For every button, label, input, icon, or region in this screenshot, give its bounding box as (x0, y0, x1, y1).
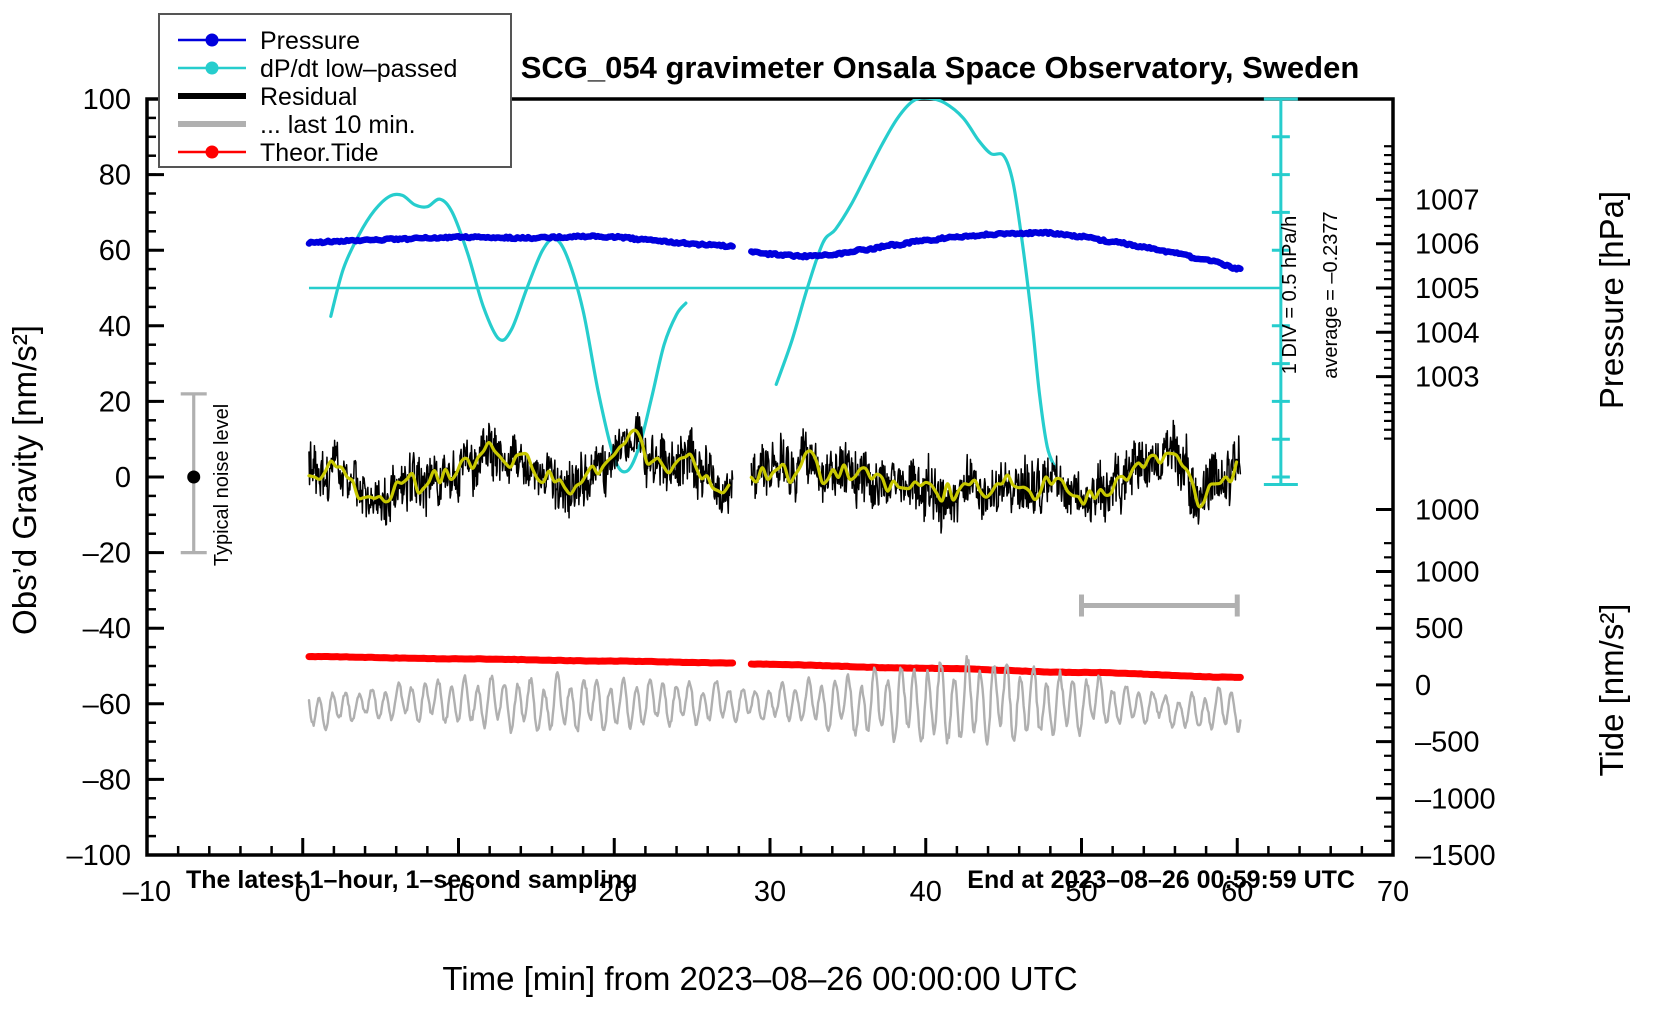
typical-noise-level-label: Typical noise level (211, 404, 233, 566)
scalebar-division-label: 1 DIV = 0.5 hPa/h (1279, 216, 1301, 374)
x-axis-title: Time [min] from 2023–08–26 00:00:00 UTC (442, 960, 1077, 997)
pressure-tick-label: 1005 (1415, 273, 1480, 305)
y-tick-label: 0 (115, 462, 131, 494)
gravimeter-plot: –10010203040506070–100–80–60–40–20020406… (0, 0, 1660, 1020)
y-axis-right-tide-title: Tide [nm/s²] (1593, 604, 1630, 777)
tide-tick-label: 0 (1415, 670, 1431, 702)
y-tick-label: 60 (99, 235, 131, 267)
pressure-tick-label: 1006 (1415, 229, 1480, 261)
legend-label-2: Residual (260, 83, 357, 111)
tide-tick-label: –1000 (1415, 783, 1496, 815)
y-axis-left-title: Obs’d Gravity [nm/s²] (6, 325, 43, 635)
legend-label-1: dP/dt low–passed (260, 55, 457, 83)
noise-bar-center-dot (187, 471, 200, 484)
x-tick-label: 40 (910, 876, 942, 908)
legend-marker-1 (206, 62, 219, 75)
y-tick-label: –100 (66, 840, 131, 872)
legend: PressuredP/dt low–passedResidual... last… (159, 14, 511, 167)
legend-marker-4 (206, 146, 219, 159)
y-tick-label: –40 (83, 613, 131, 645)
y-tick-label: 20 (99, 386, 131, 418)
y-tick-label: –60 (83, 689, 131, 721)
annotation-bottom-right: End at 2023–08–26 00:59:59 UTC (967, 866, 1355, 894)
x-tick-label: 30 (754, 876, 786, 908)
x-tick-label: 70 (1377, 876, 1409, 908)
scalebar-average-label: average = –0.2377 (1320, 211, 1342, 378)
pressure-tick-label: 1004 (1415, 317, 1480, 349)
pressure-tick-label: 1007 (1415, 184, 1480, 216)
pressure-tick-label: 1003 (1415, 362, 1480, 394)
page-title: SCG_054 gravimeter Onsala Space Observat… (521, 50, 1360, 85)
annotation-bottom-left: The latest 1–hour, 1–second sampling (186, 866, 638, 894)
y-tick-label: 100 (83, 84, 131, 116)
tide-tick-label: –1500 (1415, 840, 1496, 872)
y-tick-label: 40 (99, 311, 131, 343)
y-axis-right-pressure-title: Pressure [hPa] (1593, 191, 1630, 409)
legend-marker-0 (206, 34, 219, 47)
legend-label-3: ... last 10 min. (260, 111, 416, 139)
y-tick-label: 80 (99, 160, 131, 192)
legend-label-4: Theor.Tide (260, 139, 379, 167)
x-tick-label: –10 (123, 876, 171, 908)
legend-label-0: Pressure (260, 27, 360, 55)
tide-tick-label: 1000 (1415, 557, 1480, 589)
tide-tick-label: 500 (1415, 613, 1463, 645)
pressure-tick-label: 1000 (1415, 495, 1480, 527)
y-tick-label: –80 (83, 764, 131, 796)
y-tick-label: –20 (83, 538, 131, 570)
tide-tick-label: –500 (1415, 727, 1480, 759)
